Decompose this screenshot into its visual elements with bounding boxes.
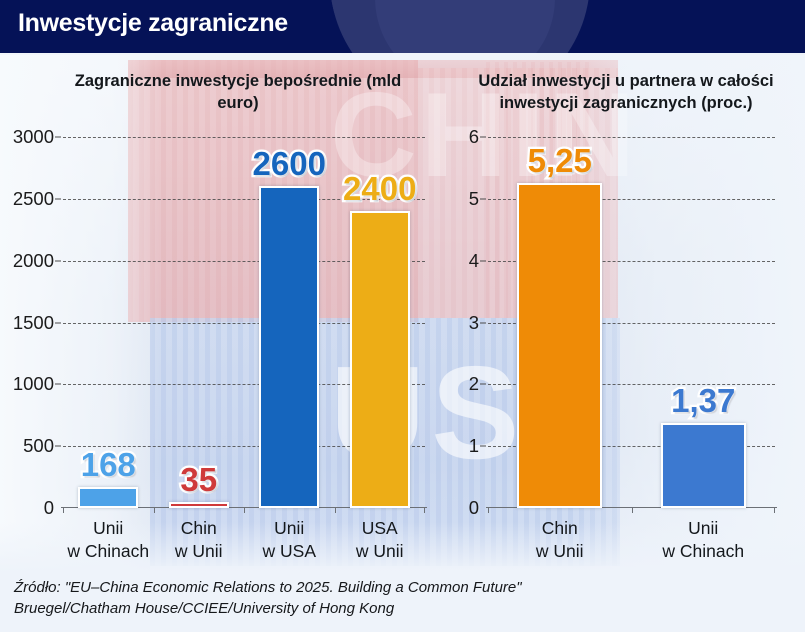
x-axis-label-line-2: w Chinach: [662, 540, 744, 563]
x-axis-tick-mark: [244, 507, 245, 513]
x-axis-label-line-1: Unii: [263, 517, 316, 540]
chart-right: 01234565,25Chinw Unii1,37Uniiw Chinach: [488, 137, 775, 508]
y-axis-tick-label: 6: [469, 126, 479, 148]
bar: [259, 186, 319, 508]
x-axis-label-line-2: w Chinach: [67, 540, 149, 563]
x-axis-tick-mark: [154, 507, 155, 513]
x-axis-category-label: Uniiw Chinach: [67, 517, 149, 563]
y-axis-tick-label: 2000: [13, 250, 54, 272]
y-axis-tick-label: 1500: [13, 312, 54, 334]
x-axis-tick-mark: [632, 507, 633, 513]
y-axis-tick-mark: [480, 446, 486, 447]
x-axis-label-line-1: Chin: [536, 517, 584, 540]
bar-value-label: 1,37: [671, 382, 735, 420]
y-axis-tick-mark: [55, 260, 61, 261]
bar: [78, 487, 138, 508]
y-axis-tick-mark: [55, 322, 61, 323]
y-axis-tick-mark: [55, 446, 61, 447]
bar-value-label: 2600: [253, 145, 326, 183]
page-title: Inwestycje zagraniczne: [18, 9, 288, 38]
x-axis-label-line-1: Chin: [175, 517, 223, 540]
x-axis-category-label: Uniiw Chinach: [662, 517, 744, 563]
y-axis-tick-label: 2500: [13, 188, 54, 210]
bar-value-label: 5,25: [528, 142, 592, 180]
y-axis-tick-label: 0: [44, 497, 54, 519]
bar: [661, 423, 746, 508]
x-axis-label-line-2: w Unii: [175, 540, 223, 563]
x-axis-label-line-1: USA: [356, 517, 404, 540]
y-axis-tick-mark: [480, 322, 486, 323]
y-axis-tick-label: 2: [469, 373, 479, 395]
y-axis-tick-mark: [480, 384, 486, 385]
gridline: [63, 137, 425, 138]
source-line-1: Źródło: "EU–China Economic Relations to …: [14, 577, 794, 599]
chart-title-right: Udział inwestycji u partnera w całości i…: [452, 70, 800, 114]
y-axis-tick-mark: [55, 198, 61, 199]
x-axis-tick-mark: [774, 507, 775, 513]
bar: [350, 211, 410, 508]
x-axis-tick-mark: [63, 507, 64, 513]
y-axis-tick-label: 5: [469, 188, 479, 210]
y-axis-tick-label: 4: [469, 250, 479, 272]
bar-value-label: 168: [81, 446, 136, 484]
x-axis-tick-mark: [335, 507, 336, 513]
x-axis-tick-mark: [488, 507, 489, 513]
source-line-2: Bruegel/Chatham House/CCIEE/University o…: [14, 598, 794, 620]
x-axis-label-line-2: w Unii: [536, 540, 584, 563]
y-axis-tick-mark: [480, 198, 486, 199]
y-axis-tick-label: 500: [23, 435, 54, 457]
x-axis-label-line-2: w Unii: [356, 540, 404, 563]
gridline: [488, 137, 775, 138]
y-axis-tick-mark: [55, 384, 61, 385]
infographic-page: CHIN US Inwestycje zagraniczne Zagranicz…: [0, 0, 805, 632]
y-axis-tick-label: 1000: [13, 373, 54, 395]
x-axis-category-label: Chinw Unii: [536, 517, 584, 563]
x-axis-label-line-1: Unii: [67, 517, 149, 540]
bar: [517, 183, 602, 508]
y-axis-tick-label: 0: [469, 497, 479, 519]
y-axis-tick-label: 3: [469, 312, 479, 334]
y-axis-tick-label: 3000: [13, 126, 54, 148]
y-axis-tick-label: 1: [469, 435, 479, 457]
y-axis-tick-mark: [55, 137, 61, 138]
bar-value-label: 35: [180, 461, 217, 499]
bar-value-label: 2400: [343, 170, 416, 208]
x-axis-category-label: USAw Unii: [356, 517, 404, 563]
y-axis-tick-mark: [480, 260, 486, 261]
x-axis-label-line-2: w USA: [263, 540, 316, 563]
y-axis-tick-mark: [480, 137, 486, 138]
header-bar: Inwestycje zagraniczne: [0, 0, 805, 53]
source-note: Źródło: "EU–China Economic Relations to …: [14, 577, 794, 621]
bar: [169, 502, 229, 508]
chart-title-left: Zagraniczne inwestycje bepośrednie (mld …: [58, 70, 418, 114]
x-axis-category-label: Chinw Unii: [175, 517, 223, 563]
x-axis-label-line-1: Unii: [662, 517, 744, 540]
x-axis-tick-mark: [424, 507, 425, 513]
header-decor-circle-b: [375, 0, 555, 53]
chart-left: 050010001500200025003000168Uniiw Chinach…: [63, 137, 425, 508]
x-axis-category-label: Uniiw USA: [263, 517, 316, 563]
